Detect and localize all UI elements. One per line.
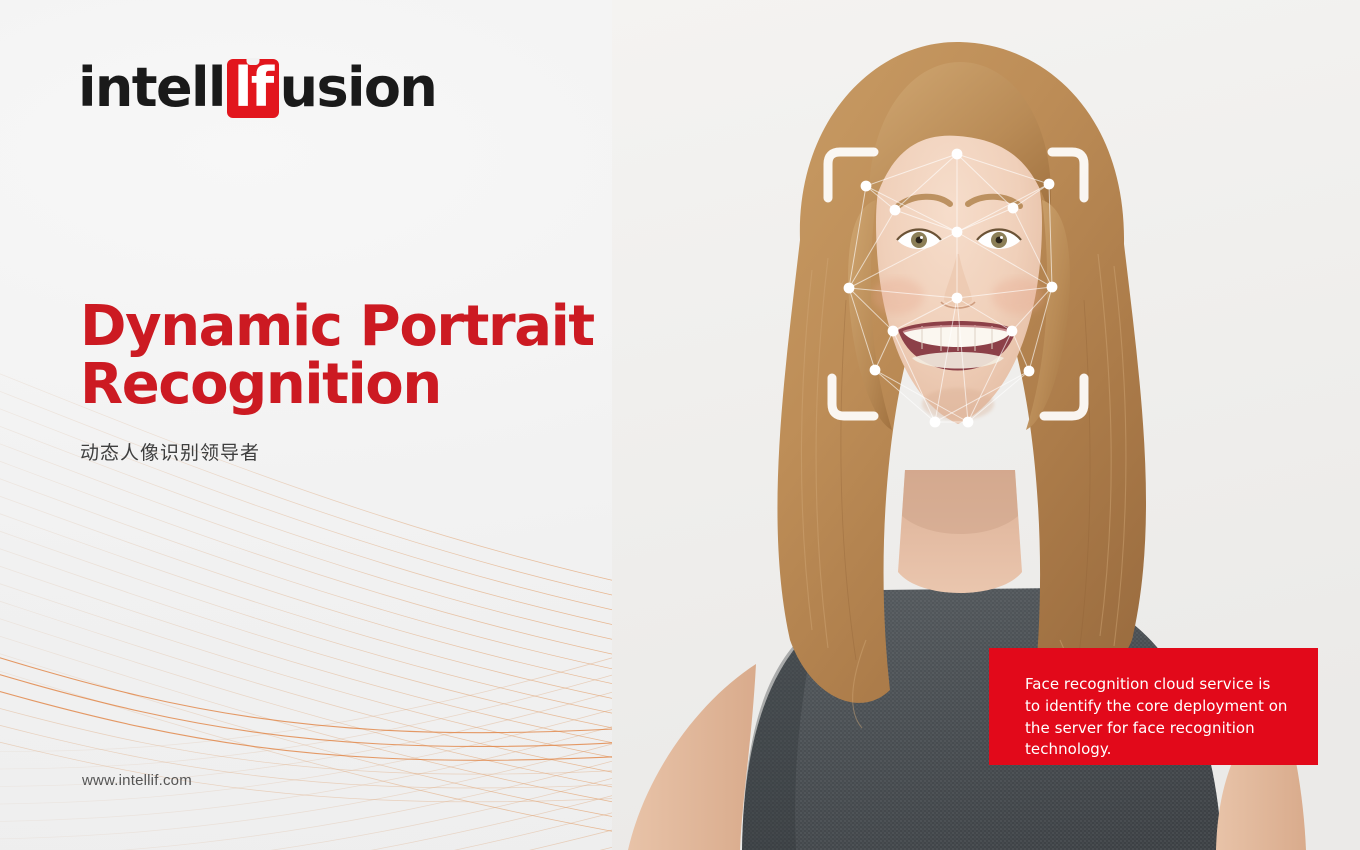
landmark-forehead-center [952, 149, 963, 160]
page-title-line1: Dynamic Portrait [80, 294, 594, 359]
page-subtitle: 动态人像识别领导者 [80, 440, 640, 467]
landmark-brow-left [890, 205, 901, 216]
landmark-jaw-left [870, 365, 881, 376]
landmark-cheek-left [844, 283, 855, 294]
landmark-chin-left [930, 417, 941, 428]
landmark-nose-bridge [952, 227, 963, 238]
brand-logo-text: intelllfusion [78, 59, 436, 118]
website-url[interactable]: www.intellif.com [82, 772, 192, 789]
landmark-temple-left [861, 181, 872, 192]
landmark-temple-right [1044, 179, 1055, 190]
landmark-cheek-right [1047, 282, 1058, 293]
brand-logo[interactable]: intelllfusion [78, 58, 436, 118]
brand-logo-prefix: intell [78, 61, 225, 115]
callout-panel: Face recognition cloud service is to ide… [989, 648, 1318, 765]
landmark-nose-tip [952, 293, 963, 304]
page-title-line2: Recognition [80, 352, 441, 417]
landmark-jaw-right [1024, 366, 1035, 377]
hero-heading-block: Dynamic Portrait Recognition 动态人像识别领导者 [80, 298, 640, 467]
slide-canvas: intelllfusion [0, 0, 1360, 850]
landmark-chin-right [963, 417, 974, 428]
brand-logo-mark: lf [227, 59, 279, 118]
landmark-mouth-right [1007, 326, 1018, 337]
landmark-mouth-left [888, 326, 899, 337]
callout-text: Face recognition cloud service is to ide… [1025, 674, 1288, 761]
brand-logo-suffix: usion [280, 61, 437, 115]
landmark-brow-right [1008, 203, 1019, 214]
page-title: Dynamic Portrait Recognition [80, 298, 640, 414]
